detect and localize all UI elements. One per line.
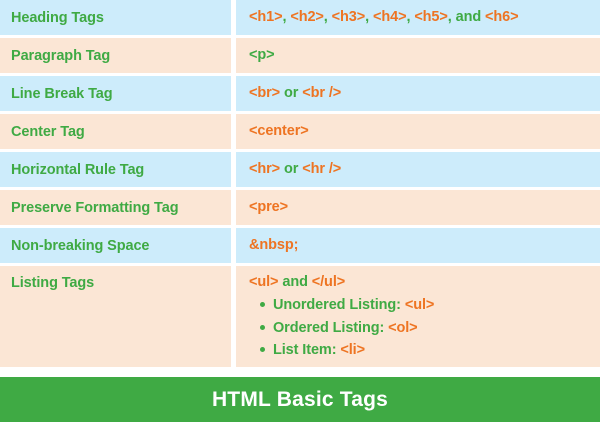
row-value: <ul> and </ul>Unordered Listing: <ul>Ord… [236, 266, 600, 367]
tags-table: Heading Tags<h1>, <h2>, <h3>, <h4>, <h5>… [0, 0, 600, 377]
value-segment: <li> [340, 342, 365, 358]
value-segment: , [365, 9, 373, 25]
value-segment: <h4> [373, 9, 406, 25]
value-segment: <br /> [302, 85, 341, 101]
row-value: <p> [236, 38, 600, 73]
value-segment: or [280, 161, 302, 177]
row-label: Paragraph Tag [0, 38, 231, 73]
list-item: Ordered Listing: <ol> [273, 317, 434, 339]
value-segment: <p> [249, 47, 275, 63]
table-row: Center Tag<center> [0, 114, 600, 149]
row-value: &nbsp; [236, 228, 600, 263]
value-segment: Unordered Listing: [273, 297, 405, 313]
value-line: <hr> or <hr /> [249, 160, 341, 178]
footer-banner: HTML Basic Tags [0, 377, 600, 422]
bullet-dot-icon [260, 302, 265, 307]
row-label: Heading Tags [0, 0, 231, 35]
list-item: List Item: <li> [273, 339, 434, 361]
row-label: Line Break Tag [0, 76, 231, 111]
value-segment: &nbsp; [249, 237, 298, 253]
value-segment: <hr /> [302, 161, 341, 177]
row-value: <center> [236, 114, 600, 149]
value-line: <br> or <br /> [249, 84, 341, 102]
value-segment: </ul> [312, 274, 345, 290]
table-row: Non-breaking Space&nbsp; [0, 228, 600, 263]
value-line: &nbsp; [249, 236, 298, 254]
value-segment: or [280, 85, 302, 101]
value-segment: , [324, 9, 332, 25]
value-segment: <h5> [414, 9, 447, 25]
row-value: <hr> or <hr /> [236, 152, 600, 187]
sub-list: Unordered Listing: <ul>Ordered Listing: … [249, 294, 434, 361]
value-segment: <center> [249, 123, 309, 139]
table-row: Horizontal Rule Tag<hr> or <hr /> [0, 152, 600, 187]
page-title: HTML Basic Tags [212, 388, 388, 412]
table-row: Paragraph Tag<p> [0, 38, 600, 73]
value-segment: <ul> [405, 297, 434, 313]
value-segment: <h3> [332, 9, 365, 25]
bullet-dot-icon [260, 325, 265, 330]
row-label: Preserve Formatting Tag [0, 190, 231, 225]
row-label: Listing Tags [0, 266, 231, 367]
value-segment: , and [448, 9, 485, 25]
value-segment: and [278, 274, 311, 290]
table-row: Listing Tags<ul> and </ul>Unordered List… [0, 266, 600, 367]
table-row: Line Break Tag<br> or <br /> [0, 76, 600, 111]
list-item: Unordered Listing: <ul> [273, 294, 434, 316]
value-line: <pre> [249, 198, 288, 216]
row-label: Center Tag [0, 114, 231, 149]
row-label: Non-breaking Space [0, 228, 231, 263]
value-line: <h1>, <h2>, <h3>, <h4>, <h5>, and <h6> [249, 8, 519, 26]
value-segment: <h1> [249, 9, 282, 25]
row-label: Horizontal Rule Tag [0, 152, 231, 187]
row-value: <br> or <br /> [236, 76, 600, 111]
value-segment: <h2> [290, 9, 323, 25]
table-row: Preserve Formatting Tag<pre> [0, 190, 600, 225]
row-value: <pre> [236, 190, 600, 225]
bullet-dot-icon [260, 347, 265, 352]
value-segment: List Item: [273, 342, 340, 358]
value-segment: <br> [249, 85, 280, 101]
value-segment: <ul> [249, 274, 278, 290]
value-segment: <pre> [249, 199, 288, 215]
value-line: <ul> and </ul> [249, 273, 345, 291]
table-row: Heading Tags<h1>, <h2>, <h3>, <h4>, <h5>… [0, 0, 600, 35]
value-segment: <hr> [249, 161, 280, 177]
value-segment: <h6> [485, 9, 518, 25]
row-value: <h1>, <h2>, <h3>, <h4>, <h5>, and <h6> [236, 0, 600, 35]
value-line: <p> [249, 46, 275, 64]
value-line: <center> [249, 122, 309, 140]
value-segment: Ordered Listing: [273, 320, 388, 336]
html-basic-tags-infographic: Heading Tags<h1>, <h2>, <h3>, <h4>, <h5>… [0, 0, 600, 422]
value-segment: <ol> [388, 320, 417, 336]
